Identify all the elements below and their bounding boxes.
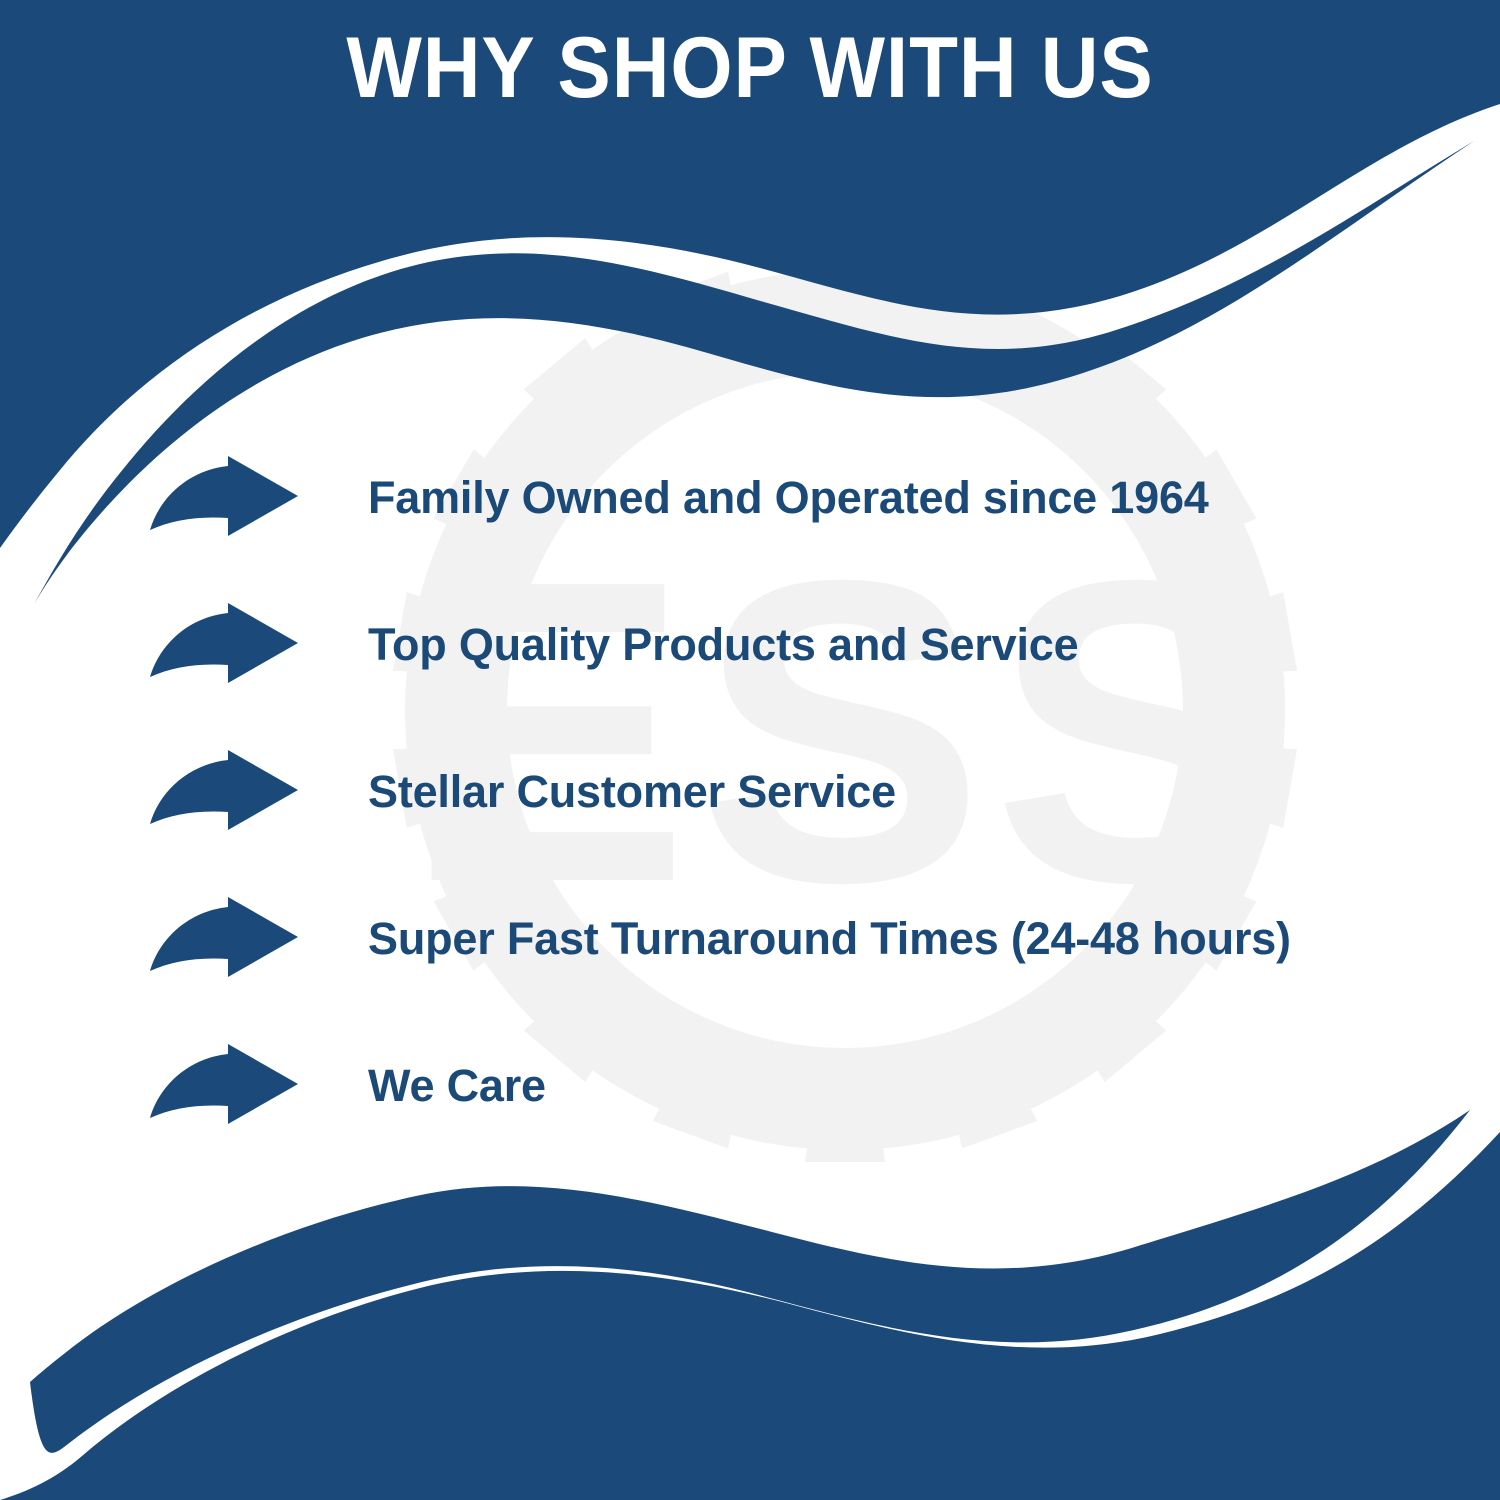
curved-arrow-right-icon [150, 897, 298, 981]
curved-arrow-right-icon [150, 1044, 298, 1128]
page-title: WHY SHOP WITH US [53, 16, 1448, 120]
list-item-label: Top Quality Products and Service [368, 617, 1078, 673]
curved-arrow-right-icon [150, 750, 298, 834]
list-item: Stellar Customer Service [0, 718, 1500, 865]
list-item-label: We Care [368, 1058, 546, 1114]
list-item-label: Stellar Customer Service [368, 764, 896, 820]
benefits-list: Family Owned and Operated since 1964 Top… [0, 424, 1500, 1159]
list-item: Top Quality Products and Service [0, 571, 1500, 718]
list-item: We Care [0, 1012, 1500, 1159]
why-shop-with-us-infographic: ESS WHY SHOP WITH US Family Owned and Op… [0, 0, 1500, 1500]
list-item: Super Fast Turnaround Times (24-48 hours… [0, 865, 1500, 1012]
list-item-label: Family Owned and Operated since 1964 [368, 470, 1209, 526]
curved-arrow-right-icon [150, 603, 298, 687]
list-item-label: Super Fast Turnaround Times (24-48 hours… [368, 911, 1291, 967]
list-item: Family Owned and Operated since 1964 [0, 424, 1500, 571]
curved-arrow-right-icon [150, 456, 298, 540]
content-layer: WHY SHOP WITH US Family Owned and Operat… [0, 0, 1500, 1500]
